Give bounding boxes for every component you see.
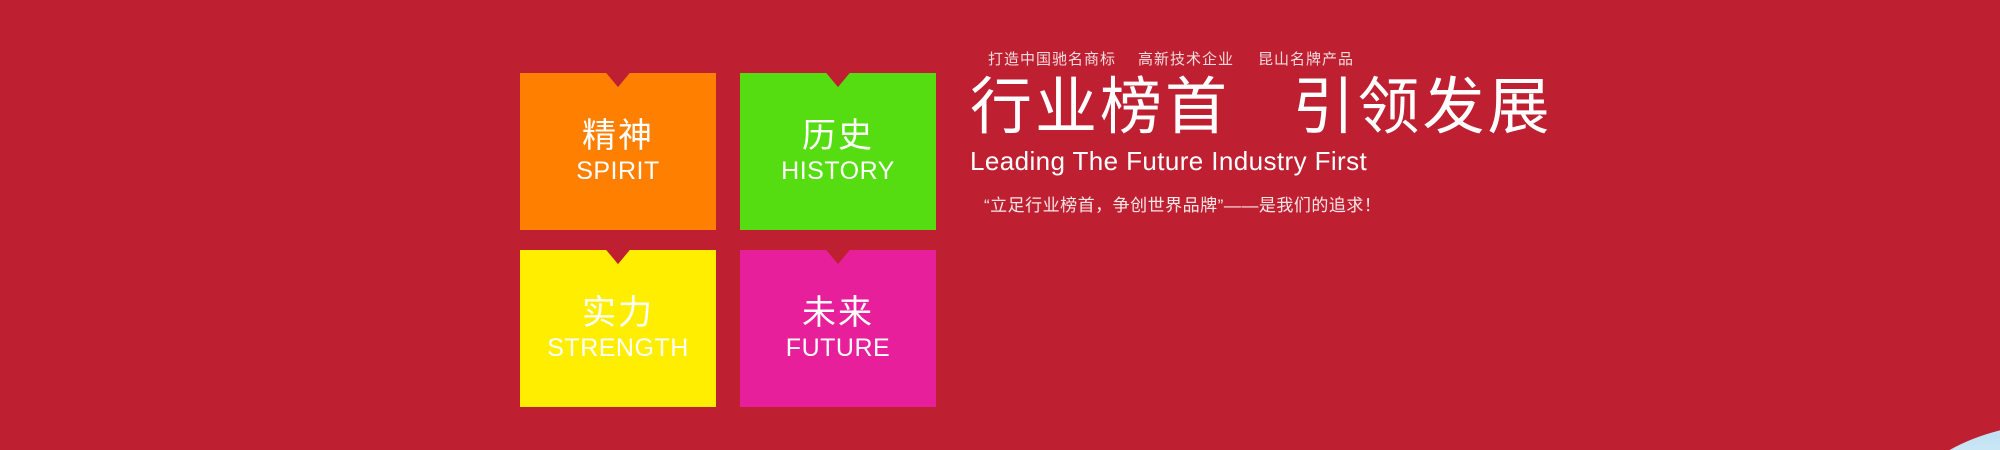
tile-spirit-en: SPIRIT — [576, 159, 660, 184]
credential-item-2: 高新技术企业 — [1138, 48, 1258, 69]
credential-list: 打造中国驰名商标 高新技术企业 昆山名牌产品 — [970, 48, 1590, 69]
tile-spirit[interactable]: 精神 SPIRIT — [520, 73, 716, 230]
tile-strength-cn: 实力 — [582, 296, 654, 330]
page-title: 行业榜首 引领发展 — [970, 75, 1590, 140]
promo-banner: 精神 SPIRIT 历史 HISTORY 实力 STRENGTH 未来 FUTU… — [0, 0, 2000, 450]
tile-history-cn: 历史 — [802, 119, 874, 153]
factory-photo-collage — [948, 190, 1368, 450]
cloud-photo-mask — [1896, 380, 2000, 450]
tile-future-en: FUTURE — [786, 336, 890, 361]
tile-spirit-cn: 精神 — [582, 119, 654, 153]
banner-left-background — [0, 0, 520, 450]
tile-strength[interactable]: 实力 STRENGTH — [520, 250, 716, 407]
tile-strength-en: STRENGTH — [547, 336, 689, 361]
headline-subtitle: Leading The Future Industry First — [970, 146, 1590, 177]
value-tile-grid: 精神 SPIRIT 历史 HISTORY 实力 STRENGTH 未来 FUTU… — [520, 66, 950, 411]
tile-future[interactable]: 未来 FUTURE — [740, 250, 936, 407]
sky-background — [1896, 380, 2000, 450]
tile-history-en: HISTORY — [781, 159, 895, 184]
tile-future-cn: 未来 — [802, 296, 874, 330]
tile-history[interactable]: 历史 HISTORY — [740, 73, 936, 230]
credential-item-1: 打造中国驰名商标 — [988, 48, 1138, 69]
credential-item-3: 昆山名牌产品 — [1258, 48, 1354, 69]
sky-cloud-icon — [1930, 396, 2000, 430]
factory-photo — [1896, 380, 2000, 450]
headline-part-2: 引领发展 — [1292, 73, 1552, 142]
headline-part-1: 行业榜首 — [970, 73, 1230, 142]
